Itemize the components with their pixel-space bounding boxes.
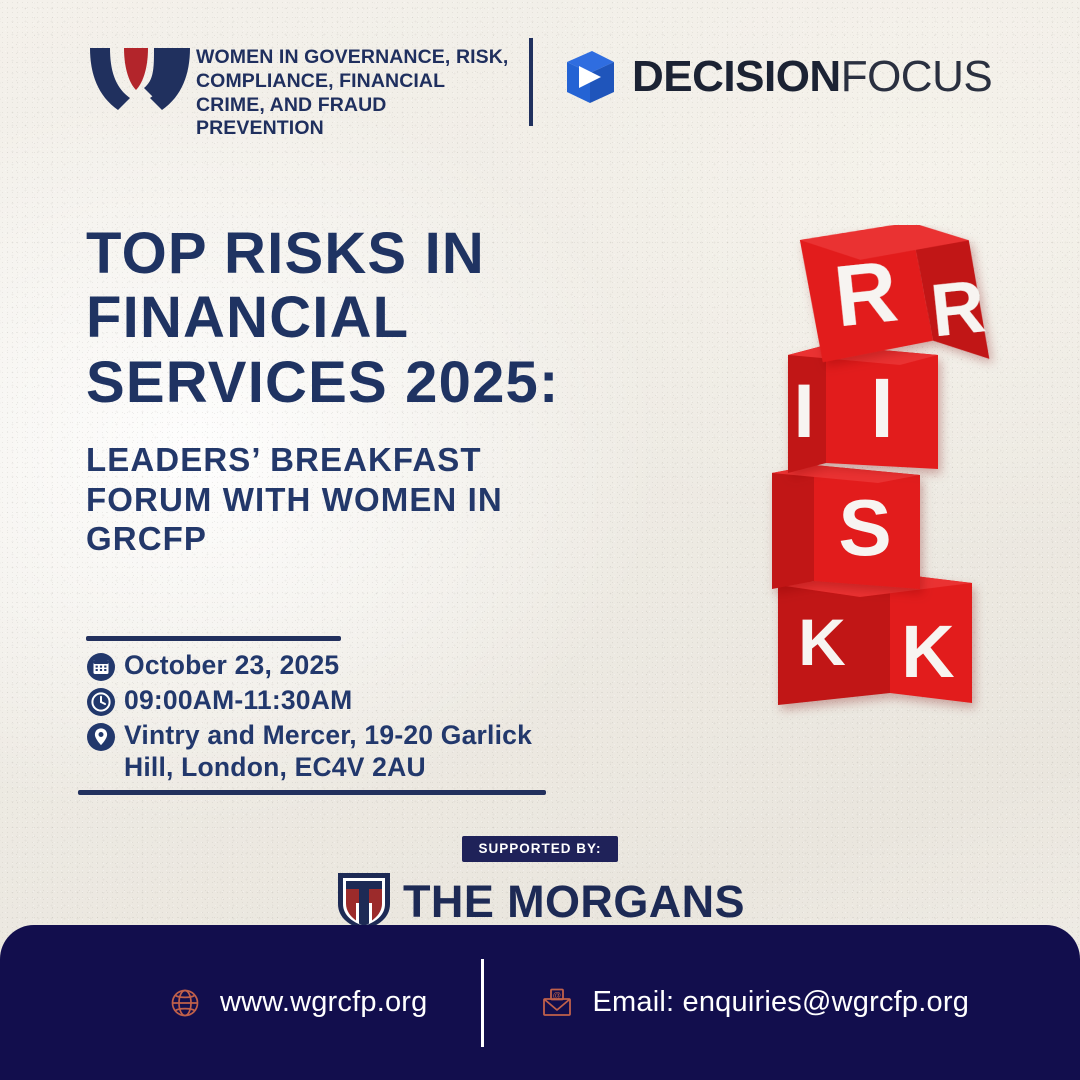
svg-text:R: R (830, 243, 902, 345)
details-list: October 23, 2025 09:00AM-11:30AM (86, 649, 586, 784)
svg-text:K: K (901, 610, 954, 693)
header-divider-icon (529, 38, 533, 126)
svg-text:S: S (838, 483, 891, 572)
page-subtitle: LEADERS’ BREAKFAST FORUM WITH WOMEN IN G… (86, 440, 606, 559)
svg-text:K: K (798, 605, 846, 679)
risk-cube-k: K K (778, 573, 972, 705)
w-shield-logo-icon (88, 40, 192, 118)
page-title: TOP RISKS IN FINANCIAL SERVICES 2025: (86, 222, 686, 415)
decision-focus-cube-icon (560, 48, 618, 106)
footer-email[interactable]: @ Email: enquiries@wgrcfp.org (540, 986, 969, 1020)
decision-focus-light-text: FOCUS (841, 52, 993, 101)
risk-cube-i: I I (788, 345, 938, 473)
decision-focus-bold-text: DECISION (632, 52, 841, 101)
svg-text:I: I (793, 369, 814, 454)
contact-footer: www.wgrcfp.org @ Email: enquiries@wgrcfp… (0, 925, 1080, 1080)
supported-by-badge: SUPPORTED BY: (462, 836, 617, 862)
detail-location-text: Vintry and Mercer, 19-20 Garlick Hill, L… (124, 719, 584, 784)
supporter-logo: THE MORGANS (0, 870, 1080, 932)
envelope-at-icon: @ (540, 986, 574, 1020)
details-rule-bottom (78, 790, 546, 795)
footer-divider-icon (481, 959, 484, 1047)
footer-email-text: Email: enquiries@wgrcfp.org (592, 986, 969, 1019)
svg-text:R: R (927, 264, 989, 352)
supporter-section: SUPPORTED BY: THE MORGANS (0, 836, 1080, 932)
location-pin-icon (86, 722, 116, 752)
detail-row-location: Vintry and Mercer, 19-20 Garlick Hill, L… (86, 719, 586, 784)
details-rule-top (86, 636, 341, 641)
risk-cube-s: S (772, 465, 920, 589)
detail-row-date: October 23, 2025 (86, 649, 586, 682)
detail-date-text: October 23, 2025 (124, 649, 339, 681)
footer-website-text: www.wgrcfp.org (220, 986, 427, 1019)
svg-text:I: I (870, 361, 893, 455)
supporter-name: THE MORGANS (403, 879, 745, 924)
event-details: October 23, 2025 09:00AM-11:30AM (86, 636, 586, 795)
svg-text:@: @ (553, 990, 562, 1000)
detail-time-text: 09:00AM-11:30AM (124, 684, 352, 716)
event-poster: WOMEN IN GOVERNANCE, RISK, COMPLIANCE, F… (0, 0, 1080, 1080)
globe-icon (168, 986, 202, 1020)
organisation-name: WOMEN IN GOVERNANCE, RISK, COMPLIANCE, F… (196, 46, 516, 141)
clock-icon (86, 687, 116, 717)
footer-website[interactable]: www.wgrcfp.org (168, 986, 427, 1020)
risk-cubes-graphic: K K S I I R (760, 225, 1040, 725)
detail-row-time: 09:00AM-11:30AM (86, 684, 586, 717)
decision-focus-logo: DECISIONFOCUS (560, 46, 992, 108)
calendar-icon (86, 652, 116, 682)
poster-header: WOMEN IN GOVERNANCE, RISK, COMPLIANCE, F… (0, 0, 1080, 160)
morgans-shield-icon (335, 870, 393, 932)
